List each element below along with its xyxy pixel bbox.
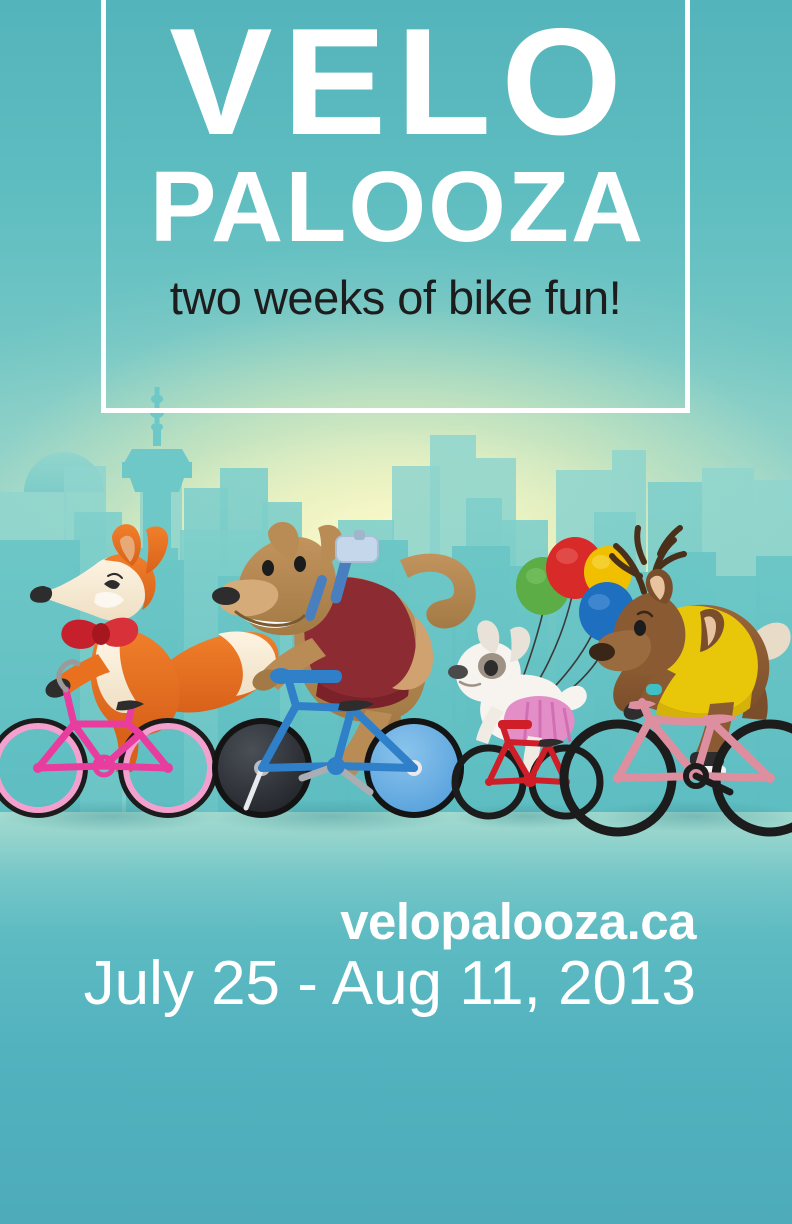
- footer-block: velopalooza.ca July 25 - Aug 11, 2013: [0, 896, 792, 1016]
- tagline: two weeks of bike fun!: [101, 274, 690, 321]
- rider-dog: [448, 537, 635, 816]
- headline-block: VELO PALOOZA two weeks of bike fun!: [101, 10, 690, 321]
- cougar-handlebar: [284, 670, 342, 683]
- poster-canvas: VELO PALOOZA two weeks of bike fun!: [0, 0, 792, 1224]
- website-url[interactable]: velopalooza.ca: [0, 896, 696, 947]
- page-title-velo: VELO: [95, 10, 696, 154]
- event-dates: July 25 - Aug 11, 2013: [0, 951, 696, 1016]
- fox-bowtie: [61, 618, 138, 649]
- animal-cyclists: [0, 520, 792, 840]
- deer-wristband: [646, 684, 662, 695]
- page-title-palooza: PALOOZA: [101, 154, 690, 256]
- fox-head: [30, 524, 168, 621]
